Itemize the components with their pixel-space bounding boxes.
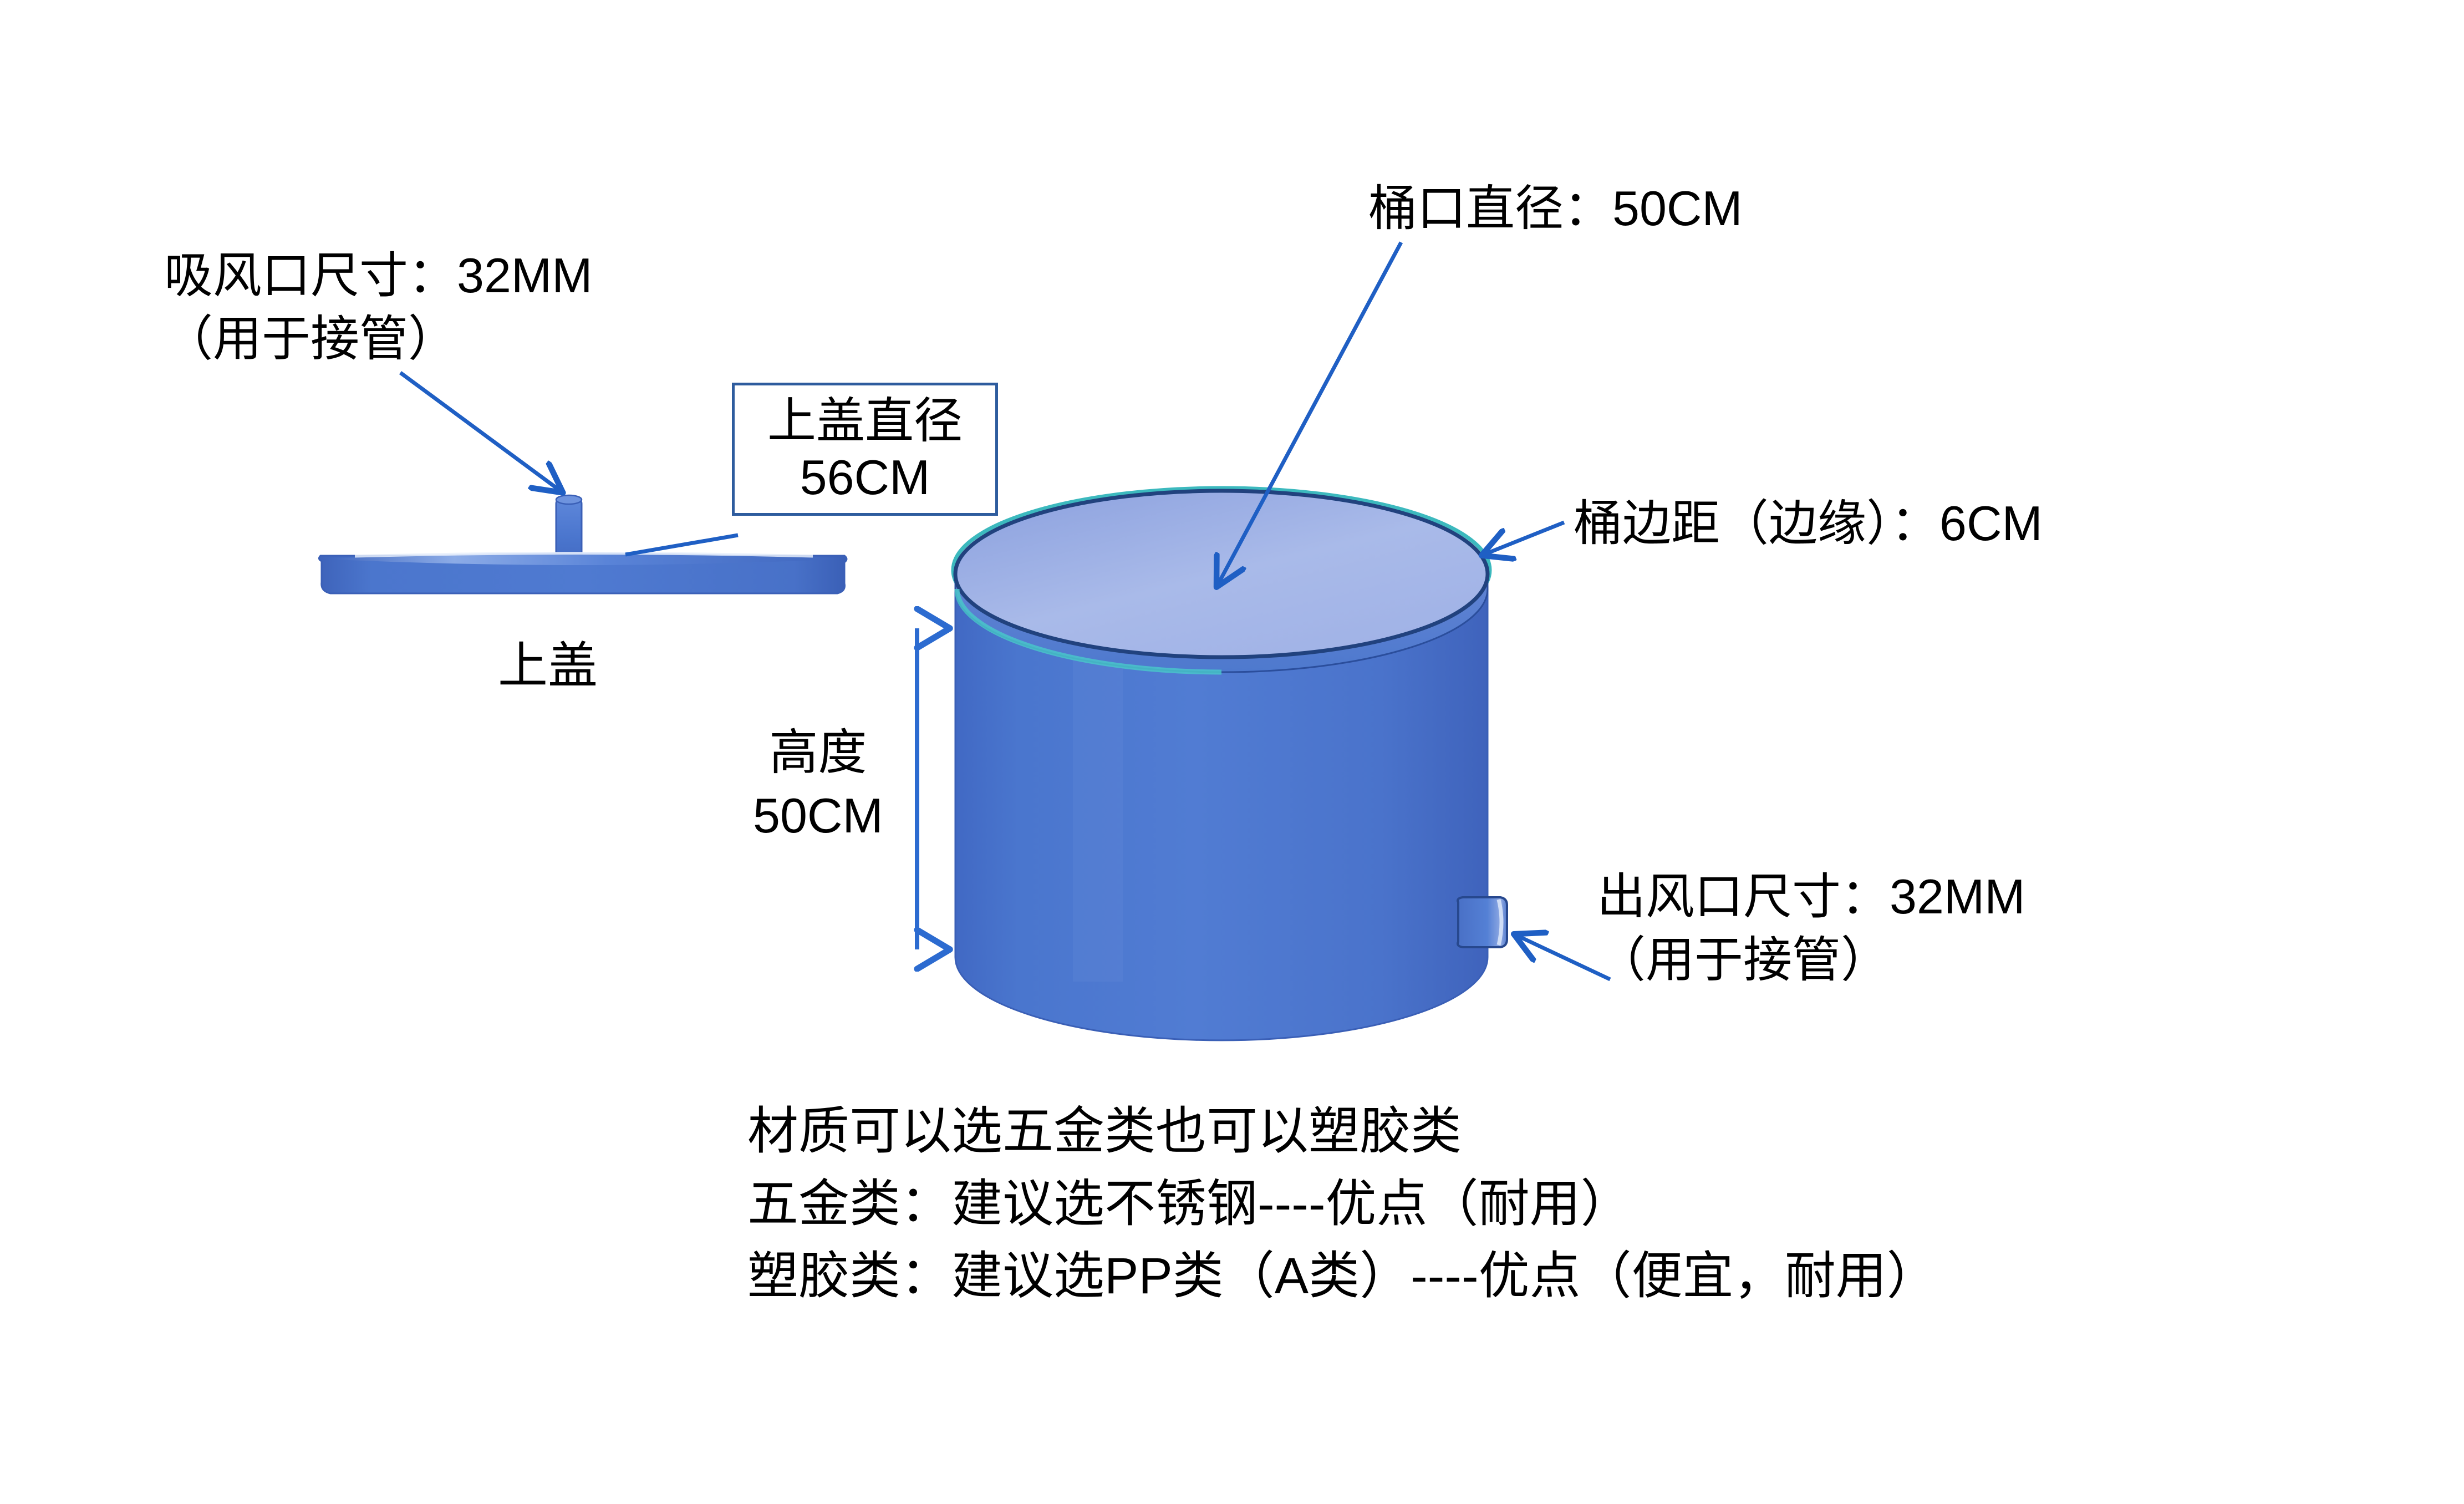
label-lid-name: 上盖 [498, 633, 598, 699]
diagram-canvas: 吸风口尺寸：32MM（用于接管） 上盖 上盖直径 56CM 桶口直径：50CM … [0, 0, 2464, 1504]
label-height-line2: 50CM [753, 788, 883, 843]
label-inlet-port: 吸风口尺寸：32MM（用于接管） [164, 244, 593, 371]
lid-disc [319, 553, 847, 594]
outlet-nipple [1458, 897, 1507, 947]
label-edge-distance: 桶边距（边缘）：6CM [1574, 491, 2043, 556]
lid-diameter-line1: 上盖直径 [767, 393, 963, 449]
inlet-leader-arrow [400, 373, 561, 491]
edge-distance-leader-arrow [1484, 522, 1564, 555]
label-height-line1: 高度 [769, 725, 867, 780]
label-height-dimension: 高度50CM [753, 721, 883, 848]
material-notes: 材质可以选五金类也可以塑胶类五金类：建议选不锈钢----优点（耐用）塑胶类：建议… [747, 1095, 1938, 1313]
lid-diameter-leader [625, 535, 738, 555]
label-outlet-line2: （用于接管） [1597, 932, 1890, 987]
material-notes-line1: 材质可以选五金类也可以塑胶类 [747, 1103, 1462, 1160]
outlet-leader-arrow [1516, 935, 1610, 979]
material-notes-line2: 五金类：建议选不锈钢----优点（耐用） [747, 1176, 1632, 1232]
lid-diameter-line2: 56CM [800, 449, 930, 506]
label-outlet-port: 出风口尺寸：32MM（用于接管） [1597, 865, 2025, 992]
label-inlet-line2: （用于接管） [164, 311, 457, 366]
label-inlet-line1: 吸风口尺寸：32MM [164, 248, 593, 303]
bucket-assembly [953, 488, 1507, 1040]
label-lid-diameter-box: 上盖直径 56CM [732, 383, 998, 516]
label-outlet-line1: 出风口尺寸：32MM [1597, 869, 2025, 924]
material-notes-line3: 塑胶类：建议选PP类（A类）----优点（便宜，耐用） [747, 1248, 1938, 1304]
label-mouth-diameter: 桶口直径：50CM [1368, 176, 1743, 241]
